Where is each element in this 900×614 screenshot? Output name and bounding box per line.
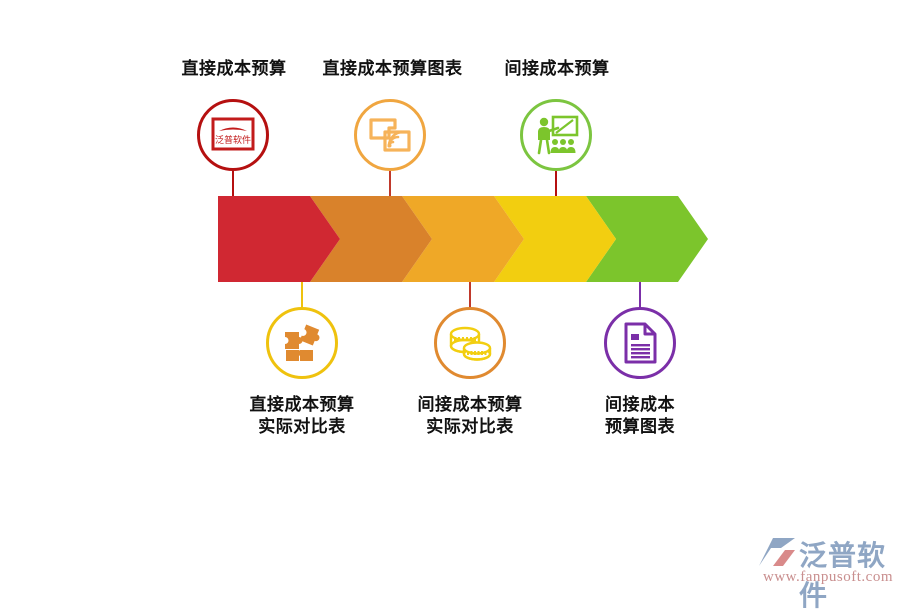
node-indirect-cost-budget-label: 间接成本预算 bbox=[487, 58, 627, 80]
node-indirect-cost-budget[interactable] bbox=[520, 99, 592, 171]
document-page-icon bbox=[617, 320, 663, 366]
watermark-logo: 泛普软件 www.fanpusoft.com bbox=[757, 536, 893, 592]
puzzle-pieces-icon bbox=[279, 320, 325, 366]
arrow-segment-1 bbox=[218, 196, 340, 282]
node-direct-cost-budget-label: 直接成本预算 bbox=[164, 58, 304, 80]
connector-node-indirect-cost-actual-compare bbox=[469, 279, 471, 309]
fanpu-logo-mark bbox=[757, 536, 797, 570]
process-arrow-band bbox=[218, 196, 680, 282]
infographic-canvas: 泛普软件 泛普软件 www.fanpusoft.com 直接成本预算直接成本预算… bbox=[0, 0, 900, 600]
presentation-board-icon: 泛普软件 bbox=[210, 112, 256, 158]
connector-node-direct-cost-actual-compare bbox=[301, 279, 303, 309]
node-direct-cost-actual-compare[interactable] bbox=[266, 307, 338, 379]
coin-stacks-icon bbox=[447, 320, 493, 366]
node-direct-cost-budget-chart-label: 直接成本预算图表 bbox=[310, 58, 475, 80]
watermark-url: www.fanpusoft.com bbox=[763, 569, 893, 586]
node-direct-cost-budget[interactable]: 泛普软件 bbox=[197, 99, 269, 171]
node-direct-cost-actual-compare-label: 直接成本预算 实际对比表 bbox=[232, 394, 372, 438]
presenter-whiteboard-icon bbox=[533, 112, 579, 158]
node-indirect-cost-budget-chart[interactable] bbox=[604, 307, 676, 379]
node-indirect-cost-actual-compare-label: 间接成本预算 实际对比表 bbox=[400, 394, 540, 438]
screen-cast-icon bbox=[367, 112, 413, 158]
node-indirect-cost-budget-chart-label: 间接成本 预算图表 bbox=[570, 394, 710, 438]
node-direct-cost-budget-chart[interactable] bbox=[354, 99, 426, 171]
connector-node-indirect-cost-budget-chart bbox=[639, 279, 641, 309]
node-indirect-cost-actual-compare[interactable] bbox=[434, 307, 506, 379]
svg-text:泛普软件: 泛普软件 bbox=[215, 134, 251, 145]
